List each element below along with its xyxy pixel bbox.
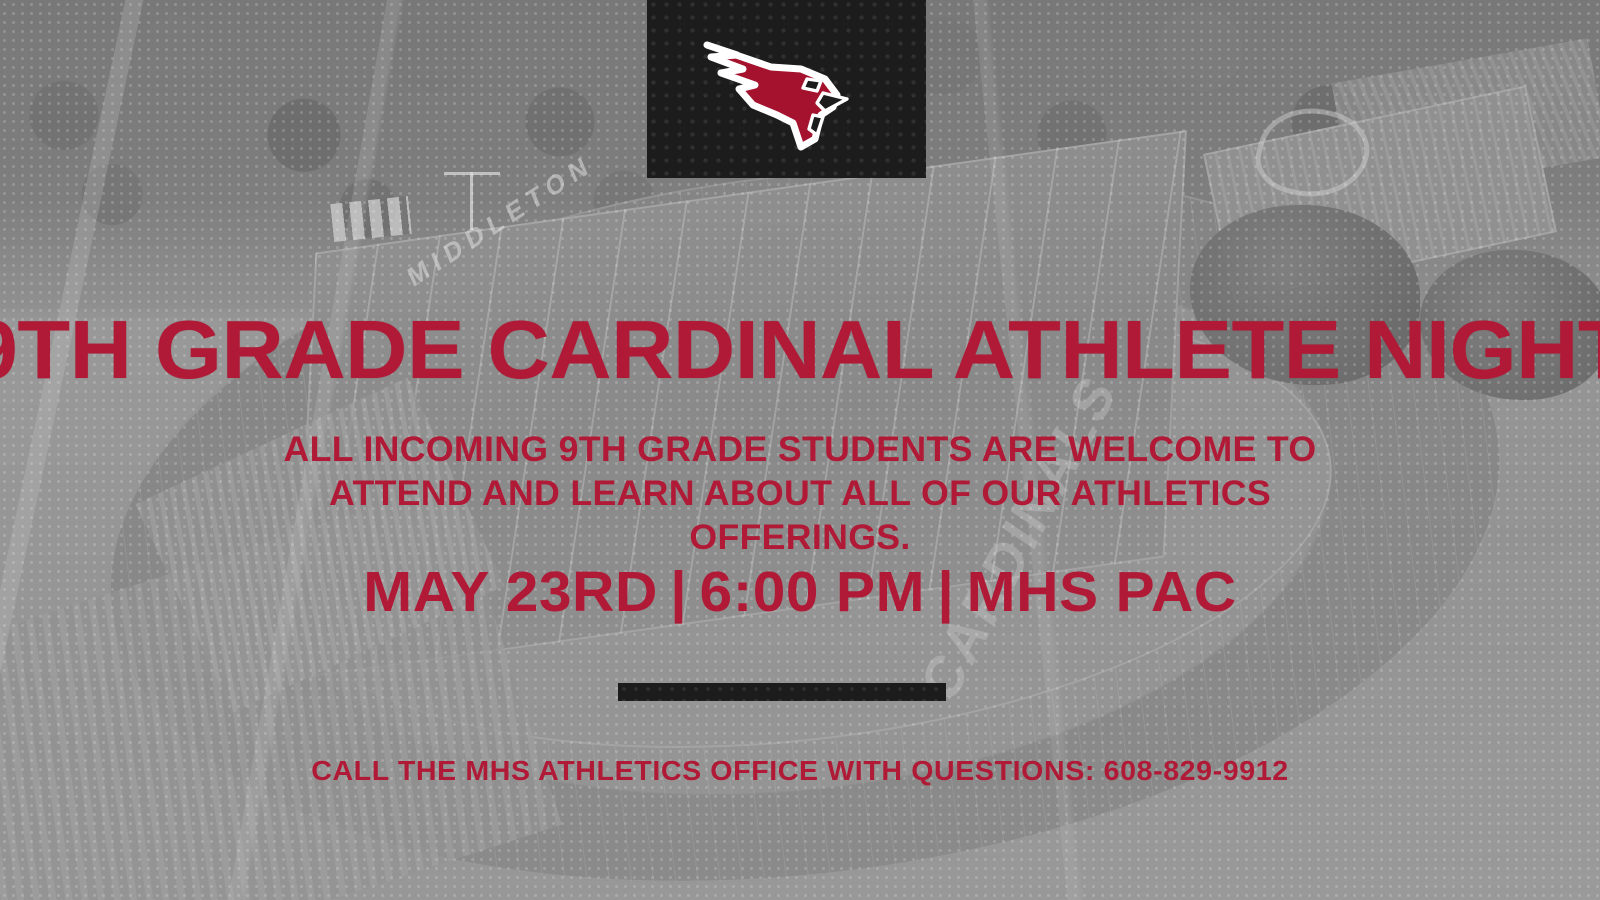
page-title: 9TH GRADE CARDINAL ATHLETE NIGHT <box>0 311 1600 390</box>
divider-halftone-texture <box>618 683 946 701</box>
event-date: MAY 23RD <box>363 560 658 624</box>
section-divider-bar <box>618 683 946 701</box>
detail-separator-2: | <box>925 560 967 624</box>
cardinal-logo-badge <box>647 0 926 178</box>
event-location: MHS PAC <box>967 560 1237 624</box>
event-time: 6:00 PM <box>700 560 925 624</box>
event-description: ALL INCOMING 9TH GRADE STUDENTS ARE WELC… <box>265 428 1336 560</box>
contact-line: CALL THE MHS ATHLETICS OFFICE WITH QUEST… <box>0 757 1600 785</box>
poster-canvas: MIDDLETON CARDINALS 9TH GRADE CARD <box>0 0 1600 900</box>
event-details-line: MAY 23RD|6:00 PM|MHS PAC <box>0 564 1600 621</box>
detail-separator-1: | <box>658 560 700 624</box>
cardinal-mascot-icon <box>697 23 877 153</box>
